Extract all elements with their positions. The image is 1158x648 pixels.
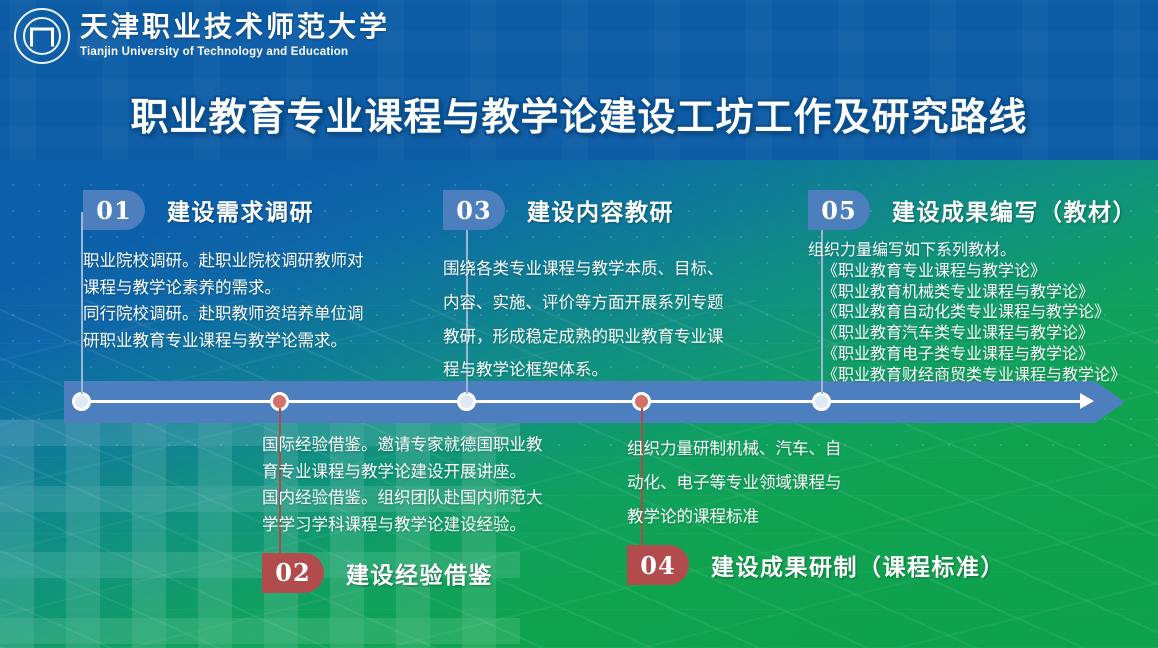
timeline-axis-line — [72, 400, 1085, 403]
card-04-line-2: 动化、电子等专业领域课程与 — [627, 466, 999, 500]
university-name-cn: 天津职业技术师范大学 — [80, 13, 390, 41]
card-03-line-3: 教研，形成稳定成熟的职业教育专业课 — [443, 320, 795, 354]
timeline-band-tip-icon — [1095, 381, 1125, 423]
card-01[interactable]: 01 建设需求调研 职业院校调研。赴职业院校调研教师对 课程与教学论素养的需求。… — [83, 190, 423, 355]
card-01-header: 01 建设需求调研 — [83, 190, 423, 230]
university-logo-text: 天津职业技术师范大学 Tianjin University of Technol… — [80, 13, 390, 59]
card-05-line-1: 组织力量编写如下系列教材。 — [808, 240, 1158, 261]
card-04-line-3: 教学论的课程标准 — [627, 500, 999, 534]
card-05-book-6: 《职业教育财经商贸类专业课程与教学论》 — [808, 365, 1158, 386]
card-02[interactable]: 国际经验借鉴。邀请专家就德国职业教 育专业课程与教学论建设开展讲座。 国内经验借… — [262, 432, 632, 593]
card-02-title: 建设经验借鉴 — [346, 556, 493, 590]
card-02-line-2: 育专业课程与教学论建设开展讲座。 — [262, 459, 624, 486]
card-03-title: 建设内容教研 — [527, 193, 674, 227]
card-05-body: 组织力量编写如下系列教材。 《职业教育专业课程与教学论》 《职业教育机械类专业课… — [808, 240, 1158, 386]
card-02-line-4: 学学习学科课程与教学论建设经验。 — [262, 512, 624, 539]
card-01-line-4: 研职业教育专业课程与教学论需求。 — [83, 328, 413, 355]
card-04-line-1: 组织力量研制机械、汽车、自 — [627, 432, 999, 466]
card-02-body: 国际经验借鉴。邀请专家就德国职业教 育专业课程与教学论建设开展讲座。 国内经验借… — [262, 432, 624, 539]
card-05-header: 05 建设成果编写（教材） — [808, 190, 1158, 230]
card-02-number-badge: 02 — [262, 553, 324, 593]
card-02-line-3: 国内经验借鉴。组织团队赴国内师范大 — [262, 485, 624, 512]
card-05-number-badge: 05 — [808, 190, 870, 230]
card-04-number-badge: 04 — [627, 545, 689, 585]
timeline-node-1[interactable] — [72, 392, 91, 411]
timeline-arrowhead-icon — [1080, 393, 1094, 409]
card-05-book-1: 《职业教育专业课程与教学论》 — [808, 261, 1158, 282]
university-seal-icon — [14, 8, 70, 64]
card-04-title: 建设成果研制（课程标准） — [711, 548, 1005, 582]
card-03-body: 围绕各类专业课程与教学本质、目标、 内容、实施、评价等方面开展系列专题 教研，形… — [443, 252, 795, 387]
timeline-node-3[interactable] — [457, 392, 476, 411]
card-04-header: 04 建设成果研制（课程标准） — [627, 545, 1007, 585]
card-04[interactable]: 组织力量研制机械、汽车、自 动化、电子等专业领域课程与 教学论的课程标准 04 … — [627, 432, 1007, 585]
card-05-book-4: 《职业教育汽车类专业课程与教学论》 — [808, 323, 1158, 344]
card-04-body: 组织力量研制机械、汽车、自 动化、电子等专业领域课程与 教学论的课程标准 — [627, 432, 999, 533]
card-05[interactable]: 05 建设成果编写（教材） 组织力量编写如下系列教材。 《职业教育专业课程与教学… — [808, 190, 1158, 386]
card-01-line-1: 职业院校调研。赴职业院校调研教师对 — [83, 248, 413, 275]
card-02-header: 02 建设经验借鉴 — [262, 553, 632, 593]
card-01-line-2: 课程与教学论素养的需求。 — [83, 275, 413, 302]
timeline-node-5[interactable] — [812, 392, 831, 411]
card-01-number-badge: 01 — [83, 190, 145, 230]
card-03[interactable]: 03 建设内容教研 围绕各类专业课程与教学本质、目标、 内容、实施、评价等方面开… — [443, 190, 799, 387]
page-title: 职业教育专业课程与教学论建设工坊工作及研究路线 — [0, 86, 1158, 141]
card-03-line-4: 程与教学论框架体系。 — [443, 353, 795, 387]
card-05-book-2: 《职业教育机械类专业课程与教学论》 — [808, 282, 1158, 303]
slide-root: 天津职业技术师范大学 Tianjin University of Technol… — [0, 0, 1158, 648]
card-03-number-badge: 03 — [443, 190, 505, 230]
card-05-book-5: 《职业教育电子类专业课程与教学论》 — [808, 344, 1158, 365]
university-name-en: Tianjin University of Technology and Edu… — [80, 47, 390, 59]
card-03-line-1: 围绕各类专业课程与教学本质、目标、 — [443, 252, 795, 286]
card-05-title: 建设成果编写（教材） — [892, 193, 1137, 227]
card-01-title: 建设需求调研 — [167, 193, 314, 227]
card-05-book-3: 《职业教育自动化类专业课程与教学论》 — [808, 302, 1158, 323]
card-03-header: 03 建设内容教研 — [443, 190, 799, 230]
card-01-line-3: 同行院校调研。赴职教师资培养单位调 — [83, 301, 413, 328]
card-01-body: 职业院校调研。赴职业院校调研教师对 课程与教学论素养的需求。 同行院校调研。赴职… — [83, 248, 413, 355]
card-02-line-1: 国际经验借鉴。邀请专家就德国职业教 — [262, 432, 624, 459]
university-logo: 天津职业技术师范大学 Tianjin University of Technol… — [14, 8, 390, 64]
card-03-line-2: 内容、实施、评价等方面开展系列专题 — [443, 286, 795, 320]
